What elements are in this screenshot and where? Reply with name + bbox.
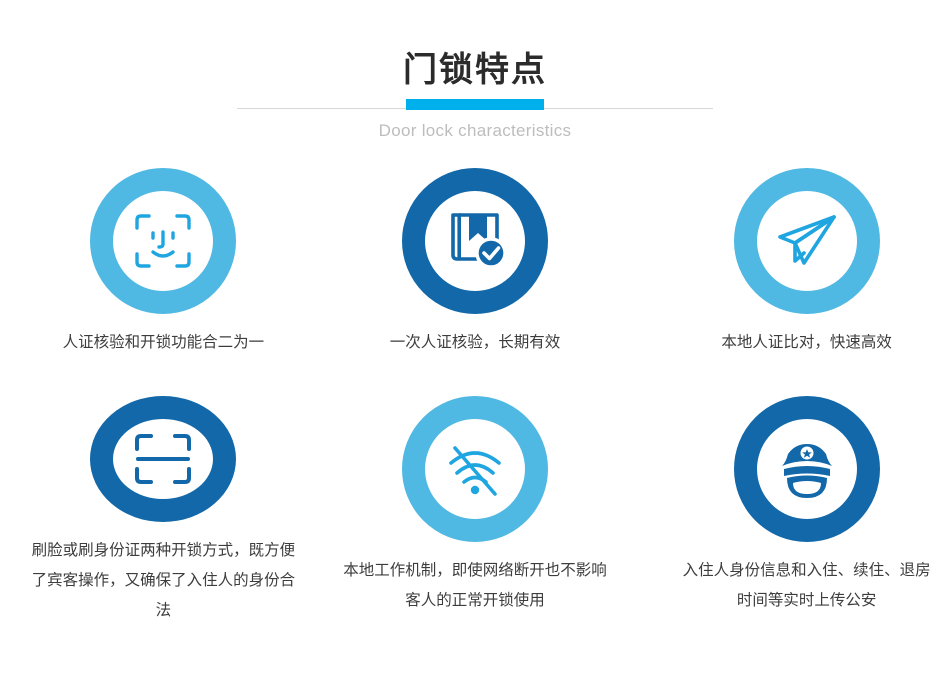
feature-item-6: 入住人身份信息和入住、续住、退房时间等实时上传公安 [633,396,950,626]
feature-icon-circle-1 [90,168,236,314]
feature-item-2: 一次人证核验，长期有效 [317,168,634,396]
police-officer-icon [770,432,844,506]
feature-grid: 人证核验和开锁功能合二为一 一次人证核验，长期有效 [0,168,950,626]
feature-caption-3: 本地人证比对，快速高效 [672,328,942,358]
feature-icon-circle-4 [90,396,236,522]
feature-row-top: 人证核验和开锁功能合二为一 一次人证核验，长期有效 [0,168,950,396]
divider-accent-bar [406,99,544,110]
feature-caption-5: 本地工作机制，即使网络断开也不影响客人的正常开锁使用 [340,556,610,616]
feature-item-3: 本地人证比对，快速高效 [633,168,950,396]
feature-item-4: 刷脸或刷身份证两种开锁方式，既方便了宾客操作，又确保了入住人的身份合法 [0,396,317,626]
feature-item-1: 人证核验和开锁功能合二为一 [0,168,317,396]
feature-caption-2: 一次人证核验，长期有效 [340,328,610,358]
page-title: 门锁特点 [0,48,950,92]
door-lock-characteristics-page: 门锁特点 Door lock characteristics [0,0,950,691]
feature-icon-circle-3 [734,168,880,314]
feature-icon-circle-2 [402,168,548,314]
title-divider [0,99,950,111]
paper-plane-icon [770,204,844,278]
feature-row-bottom: 刷脸或刷身份证两种开锁方式，既方便了宾客操作，又确保了入住人的身份合法 [0,396,950,626]
feature-caption-6: 入住人身份信息和入住、续住、退房时间等实时上传公安 [682,556,932,616]
wifi-off-icon [438,432,512,506]
feature-icon-circle-5 [402,396,548,542]
page-subtitle: Door lock characteristics [0,120,950,142]
id-scan-icon [127,423,199,495]
book-verified-icon [439,205,511,277]
page-header: 门锁特点 Door lock characteristics [0,48,950,142]
face-id-icon [127,205,199,277]
feature-caption-4: 刷脸或刷身份证两种开锁方式，既方便了宾客操作，又确保了入住人的身份合法 [28,536,298,626]
feature-caption-1: 人证核验和开锁功能合二为一 [28,328,298,358]
feature-item-5: 本地工作机制，即使网络断开也不影响客人的正常开锁使用 [317,396,634,626]
feature-icon-circle-6 [734,396,880,542]
